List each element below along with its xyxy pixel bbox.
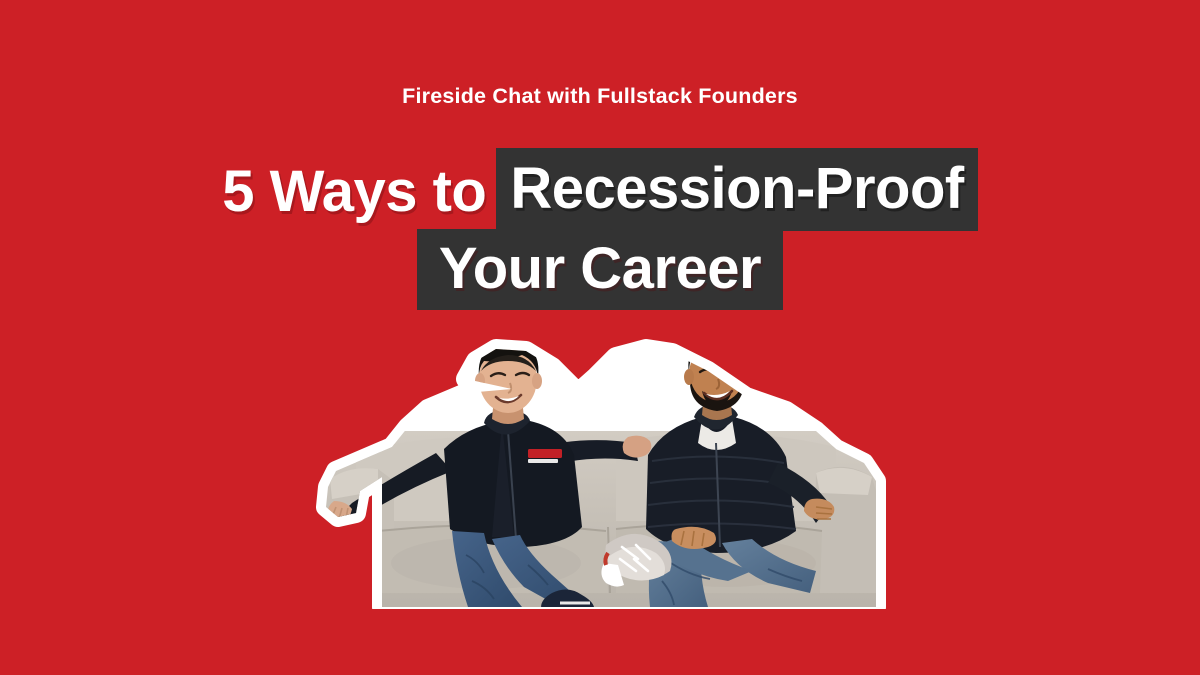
title-line-1: 5 Ways toRecession-Proof [0,148,1200,222]
title-highlight-text-1: Recession-Proof [496,148,977,231]
two-founders-on-couch-photo [316,331,900,609]
title-line-2: Your Career [0,229,1200,291]
chest-logo [528,449,562,463]
slide-subtitle: Fireside Chat with Fullstack Founders [0,84,1200,109]
photo-illustration [316,331,900,609]
slide-canvas: Fireside Chat with Fullstack Founders 5 … [0,0,1200,675]
title-plain-text: 5 Ways to [222,163,496,221]
slide-title: 5 Ways toRecession-Proof Your Career [0,148,1200,291]
title-highlight-text-2: Your Career [417,229,783,310]
